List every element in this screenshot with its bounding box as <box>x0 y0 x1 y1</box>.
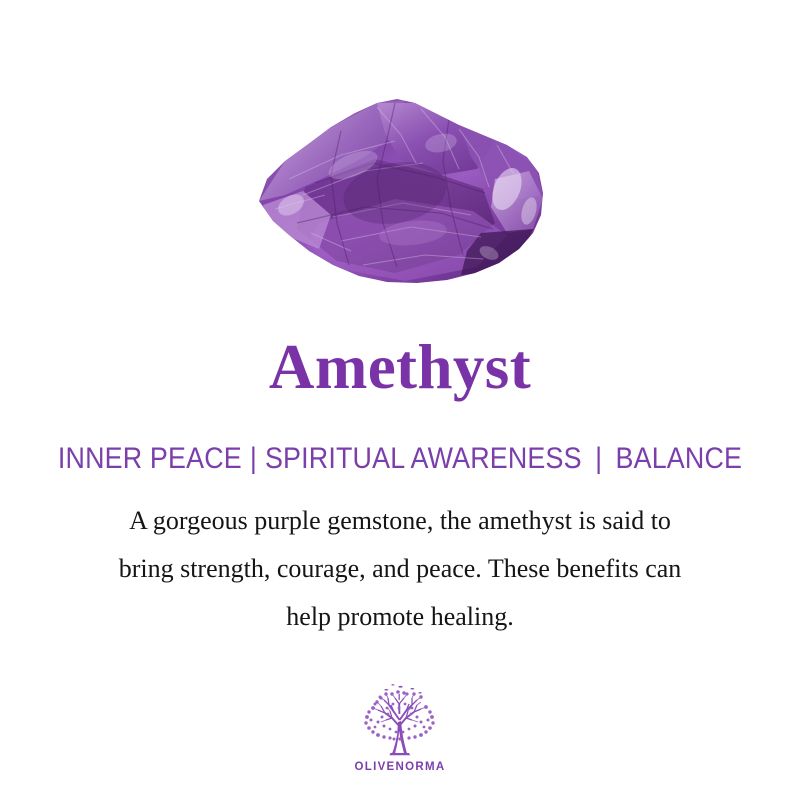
brand-wordmark: OLIVENORMA <box>355 761 446 773</box>
description-line-3: help promote healing. <box>60 593 740 641</box>
keyword-balance: BALANCE <box>616 442 743 475</box>
keyword-spiritual-awareness: SPIRITUAL AWARENESS <box>265 442 582 475</box>
keyword-separator-1: | <box>242 442 265 477</box>
gemstone-image-container <box>0 70 800 310</box>
gemstone-title: Amethyst <box>0 334 800 400</box>
description-line-1: A gorgeous purple gemstone, the amethyst… <box>60 497 740 545</box>
brand-logo: OLIVENORMA <box>0 684 800 773</box>
keyword-row: INNER PEACE|SPIRITUAL AWARENESS|BALANCE <box>42 442 758 477</box>
description-text: A gorgeous purple gemstone, the amethyst… <box>60 497 740 641</box>
stone-facets <box>245 83 555 298</box>
keyword-separator-2: | <box>582 442 616 477</box>
description-line-2: bring strength, courage, and peace. Thes… <box>60 545 740 593</box>
raw-amethyst-stone-image <box>245 83 555 298</box>
amethyst-info-card: Amethyst INNER PEACE|SPIRITUAL AWARENESS… <box>0 0 800 800</box>
olive-tree-icon <box>354 684 446 758</box>
keyword-inner-peace: INNER PEACE <box>58 442 242 475</box>
